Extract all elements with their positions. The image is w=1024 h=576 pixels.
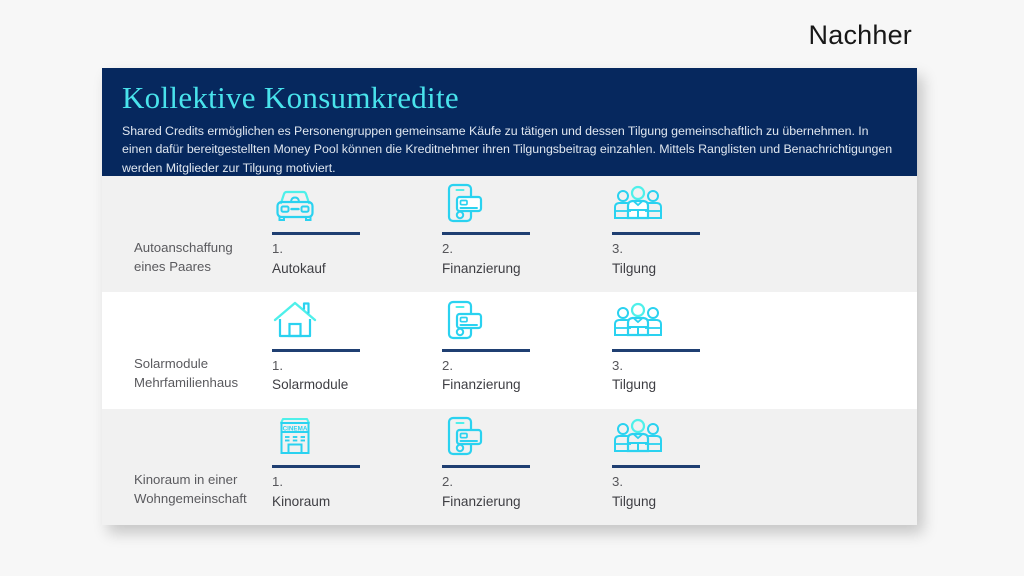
step-text: Kinoraum (272, 492, 442, 511)
step-number: 3. (612, 240, 782, 259)
table-row: Solarmodule Mehrfamilienhaus 1. Solarmod… (102, 292, 917, 408)
slide-heading: Nachher (809, 22, 912, 49)
car-icon (272, 180, 442, 226)
step-rule (272, 349, 360, 352)
table-row: Kinoraum in einer Wohngemeinschaft CINEM… (102, 409, 917, 525)
step-cell: 2. Finanzierung (442, 413, 612, 511)
row-label-line2: Mehrfamilienhaus (134, 374, 272, 393)
row-label: Autoanschaffung eines Paares (102, 239, 272, 278)
step-text: Finanzierung (442, 492, 612, 511)
row-label: Kinoraum in einer Wohngemeinschaft (102, 471, 272, 510)
mobile-payment-icon (442, 297, 612, 343)
step-text: Solarmodule (272, 375, 442, 394)
step-rule (612, 349, 700, 352)
rows-container: Autoanschaffung eines Paares (102, 176, 917, 525)
step-text: Tilgung (612, 492, 782, 511)
step-text: Finanzierung (442, 259, 612, 278)
step-cell: 2. Finanzierung (442, 180, 612, 278)
step-text: Tilgung (612, 259, 782, 278)
people-group-icon (612, 413, 782, 459)
step-number: 2. (442, 240, 612, 259)
content-card: Kollektive Konsumkredite Shared Credits … (102, 68, 917, 525)
card-title: Kollektive Konsumkredite (122, 80, 897, 116)
card-description: Shared Credits ermöglichen es Personengr… (122, 122, 897, 179)
card-header: Kollektive Konsumkredite Shared Credits … (102, 68, 917, 176)
step-number: 1. (272, 240, 442, 259)
step-number: 1. (272, 473, 442, 492)
step-rule (442, 465, 530, 468)
mobile-payment-icon (442, 413, 612, 459)
step-text: Autokauf (272, 259, 442, 278)
step-cell: CINEMA 1. Kinoraum (272, 413, 442, 511)
row-label-line2: Wohngemeinschaft (134, 490, 272, 509)
step-cell: 1. Solarmodule (272, 297, 442, 395)
step-rule (612, 465, 700, 468)
step-number: 2. (442, 357, 612, 376)
step-cell: 2. Finanzierung (442, 297, 612, 395)
step-rule (442, 232, 530, 235)
step-cell: 3. Tilgung (612, 180, 782, 278)
step-cell: 3. Tilgung (612, 413, 782, 511)
table-row: Autoanschaffung eines Paares (102, 176, 917, 292)
row-label-line1: Autoanschaffung (134, 239, 272, 258)
step-cell: 1. Autokauf (272, 180, 442, 278)
people-group-icon (612, 297, 782, 343)
row-label-line1: Solarmodule (134, 355, 272, 374)
step-number: 3. (612, 473, 782, 492)
row-label-line1: Kinoraum in einer (134, 471, 272, 490)
mobile-payment-icon (442, 180, 612, 226)
row-label: Solarmodule Mehrfamilienhaus (102, 355, 272, 394)
step-number: 3. (612, 357, 782, 376)
step-rule (272, 465, 360, 468)
people-group-icon (612, 180, 782, 226)
row-label-line2: eines Paares (134, 258, 272, 277)
step-rule (272, 232, 360, 235)
step-number: 1. (272, 357, 442, 376)
step-rule (442, 349, 530, 352)
step-text: Finanzierung (442, 375, 612, 394)
step-text: Tilgung (612, 375, 782, 394)
cinema-icon: CINEMA (272, 413, 442, 459)
step-rule (612, 232, 700, 235)
step-number: 2. (442, 473, 612, 492)
step-cell: 3. Tilgung (612, 297, 782, 395)
house-icon (272, 297, 442, 343)
